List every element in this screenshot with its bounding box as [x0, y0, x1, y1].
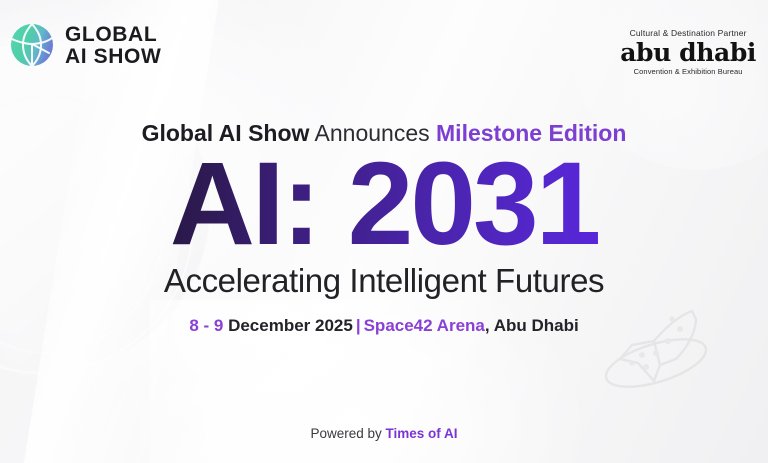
- partner-subtitle: Convention & Exhibition Bureau: [620, 67, 756, 76]
- event-date-month: December 2025: [223, 316, 352, 335]
- partner-name: abu dhabi: [620, 40, 756, 65]
- event-city: , Abu Dhabi: [485, 316, 579, 335]
- event-venue: Space42 Arena: [364, 316, 485, 335]
- detail-separator: |: [353, 316, 364, 335]
- logo-wordmark: GLOBAL AI SHOW: [65, 24, 161, 67]
- event-date-days: 8 - 9: [189, 316, 223, 335]
- powered-prefix: Powered by: [310, 426, 385, 441]
- page-title: AI: 2031: [0, 148, 768, 261]
- global-ai-show-logo[interactable]: GLOBAL AI SHOW: [9, 22, 161, 68]
- promo-poster: GLOBAL AI SHOW Cultural & Destination Pa…: [0, 0, 768, 463]
- powered-brand[interactable]: Times of AI: [386, 426, 458, 441]
- logo-line-2: AI SHOW: [65, 46, 161, 67]
- globe-icon: [9, 22, 55, 68]
- partner-kicker: Cultural & Destination Partner: [620, 28, 756, 38]
- hero-content: Global AI Show Announces Milestone Editi…: [0, 120, 768, 336]
- hero-tagline: Accelerating Intelligent Futures: [0, 262, 768, 300]
- event-details: 8 - 9 December 2025|Space42 Arena, Abu D…: [0, 316, 768, 336]
- partner-logo-abu-dhabi: Cultural & Destination Partner abu dhabi…: [620, 28, 756, 76]
- powered-by-line: Powered by Times of AI: [0, 426, 768, 441]
- logo-line-1: GLOBAL: [65, 24, 161, 45]
